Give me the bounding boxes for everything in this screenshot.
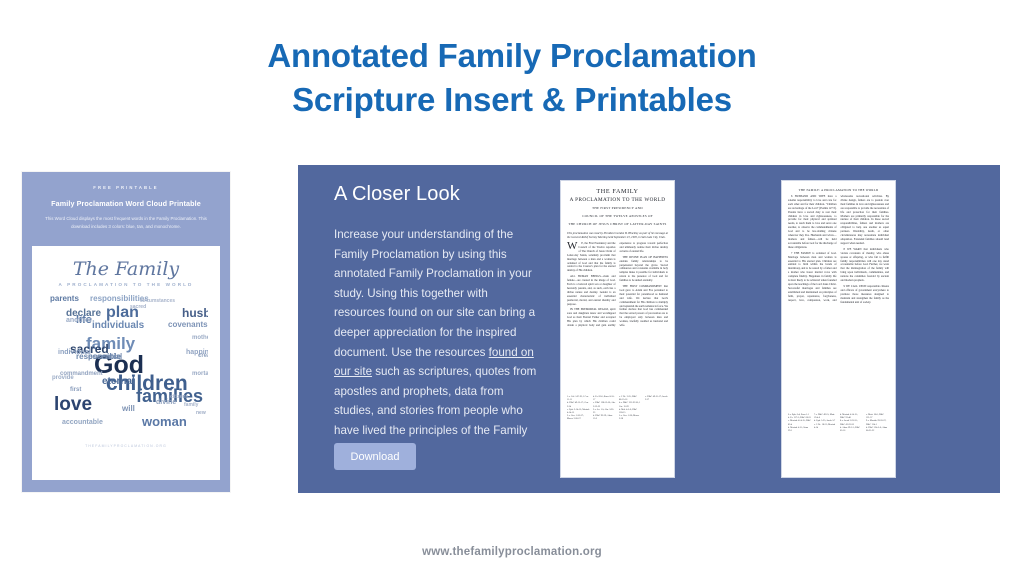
word-cloud-word: eternal — [102, 377, 135, 387]
page-title-line-2: Scripture Insert & Printables — [0, 78, 1024, 122]
wordcloud-card-description: This Word Cloud displays the most freque… — [28, 215, 224, 231]
word-cloud-word: divine — [156, 399, 176, 406]
word-cloud-graphic: Godchildrenfamilieslovefamilyplanwomanhu… — [44, 291, 208, 441]
doc1-dropcap: W — [567, 242, 578, 251]
doc1-subtitle: A PROCLAMATION TO THE WORLD — [567, 197, 668, 203]
wordcloud-script-title: The Family — [32, 246, 220, 280]
word-cloud-word: another — [66, 317, 92, 324]
word-cloud-word: love — [54, 395, 92, 414]
doc1-authority-line-2: COUNCIL OF THE TWELVE APOSTLES OF — [567, 214, 668, 219]
word-cloud-word: mother — [192, 335, 208, 341]
doc1-header: THE FAMILY A PROCLAMATION TO THE WORLD T… — [567, 188, 668, 227]
doc2-references: 6 a. Eph. 6:4; Enos 1:1b. Ps. 127:3; D&C… — [788, 414, 889, 433]
main-feature-panel: A Closer Look Increase your understandin… — [298, 165, 1000, 493]
wordcloud-preview-card[interactable]: FREE PRINTABLE Family Proclamation Word … — [22, 172, 230, 492]
word-cloud-word: individual — [58, 349, 91, 356]
word-cloud-word: first — [70, 387, 81, 393]
doc2-running-header: THE FAMILY: A PROCLAMATION TO THE WORLD — [788, 188, 889, 192]
doc-paragraph: 9 WE CALL UPON responsible citizens and … — [841, 285, 890, 305]
page-title-line-1: Annotated Family Proclamation — [0, 34, 1024, 78]
footer-url: www.thefamilyproclamation.org — [0, 546, 1024, 558]
word-cloud-word: family — [184, 403, 198, 408]
doc-paragraph: 8 WE WARN that individuals who violate c… — [841, 248, 890, 283]
closer-look-heading: A Closer Look — [334, 183, 540, 206]
doc-reference: 2 a. Gen. 1:26-27; Moses 2:26-27 — [567, 415, 590, 421]
doc-reference: 5 a. Gen. 1:28; Moses 2:28 — [619, 415, 642, 421]
doc-paragraph: 6 HUSBAND AND WIFE have a solemn respons… — [788, 195, 837, 250]
word-cloud-word: mortal — [192, 371, 208, 377]
wordcloud-sheet: The Family A PROCLAMATION TO THE WORLD G… — [32, 246, 220, 480]
doc-paragraph: THE DIVINE PLAN OF HAPPINESS enables fam… — [620, 256, 669, 283]
word-cloud-word: covenants — [168, 321, 208, 329]
doc1-authority-line-1: THE FIRST PRESIDENCY AND — [567, 206, 668, 211]
word-cloud-word: citizens — [170, 395, 188, 400]
word-cloud-word: new — [196, 411, 206, 416]
page-title: Annotated Family Proclamation Scripture … — [0, 34, 1024, 122]
word-cloud-word: will — [122, 405, 135, 413]
doc-reference: b. D&C 93:29; Alma 13:3 — [593, 415, 616, 421]
wordcloud-sheet-url: THEFAMILYPROCLAMATION.ORG — [32, 444, 220, 448]
doc2-body-columns: 6 HUSBAND AND WIFE have a solemn respons… — [788, 195, 889, 410]
doc-paragraph: ALL HUMAN BEINGS—male and female—are cre… — [567, 275, 616, 306]
document-preview-page-1[interactable]: THE FAMILY A PROCLAMATION TO THE WORLD T… — [560, 180, 675, 478]
closer-look-column: A Closer Look Increase your understandin… — [334, 183, 540, 460]
word-cloud-word: accountable — [62, 419, 103, 426]
download-button[interactable]: Download — [334, 443, 416, 470]
doc-paragraph: THE FIRST COMMANDMENT that God gave to A… — [620, 285, 669, 328]
doc1-title: THE FAMILY — [567, 188, 668, 195]
word-cloud-word: woman — [142, 415, 187, 428]
document-preview-page-2[interactable]: THE FAMILY: A PROCLAMATION TO THE WORLD … — [781, 180, 896, 478]
doc1-body-columns: W E, the First Presidency and the Counci… — [567, 242, 668, 392]
closer-look-body: Increase your understanding of the Famil… — [334, 225, 540, 460]
wordcloud-sheet-subtitle: A PROCLAMATION TO THE WORLD — [32, 282, 220, 287]
doc-reference: b. Alma 39:3-5; D&C 63:16 — [840, 427, 863, 433]
closer-look-body-part-1: Increase your understanding of the Famil… — [334, 228, 535, 359]
doc-reference: c. 3 Ne. 18:21; Mosiah 4:14 — [814, 424, 837, 430]
word-cloud-word: parents — [50, 295, 79, 303]
wordcloud-card-header-band: FREE PRINTABLE Family Proclamation Word … — [28, 178, 224, 238]
doc-reference: c. D&C 49:15-17; Jacob 2:27 — [645, 396, 668, 402]
free-printable-eyebrow: FREE PRINTABLE — [28, 185, 224, 190]
word-cloud-word: husband — [182, 307, 208, 319]
wordcloud-card-heading: Family Proclamation Word Cloud Printable — [28, 199, 224, 208]
doc-reference: d. Mosiah 4:15; Alma 39:1 — [788, 427, 811, 433]
doc-reference: b. D&C 134:5-6; Alma 60:21-22 — [866, 427, 889, 433]
doc1-references: 1 a. Col. 147:19; 1 Cor. 11:11b. D&C 49:… — [567, 396, 668, 422]
doc1-preamble: This proclamation was read by President … — [567, 231, 668, 239]
word-cloud-word: commandment — [60, 371, 103, 377]
word-cloud-word: created — [198, 353, 208, 359]
doc1-authority-line-3: THE CHURCH OF JESUS CHRIST OF LATTER-DAY… — [567, 222, 668, 227]
word-cloud-word: individuals — [92, 321, 144, 331]
word-cloud-word: sacred — [130, 305, 146, 310]
word-cloud-word: circumstances — [140, 299, 175, 304]
